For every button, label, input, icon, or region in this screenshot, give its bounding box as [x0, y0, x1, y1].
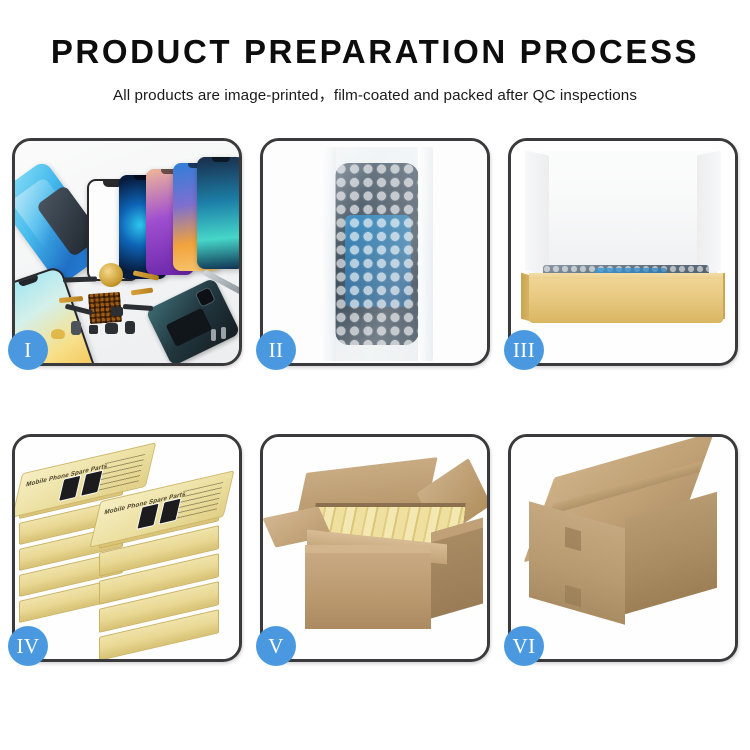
mailer-lid-right-icon [697, 150, 721, 275]
camera-module-icon [195, 286, 216, 307]
step-badge-6: VI [504, 626, 544, 666]
step-badge-5: V [256, 626, 296, 666]
bubble-wrap-packing-photo [263, 141, 487, 363]
connector-part-icon [125, 321, 135, 334]
retail-box-stack-photo: Mobile Phone Spare Parts Mobile Phone Sp… [15, 437, 239, 659]
phone-mockup-teal-icon [197, 157, 239, 269]
process-step-panel-1: I [12, 138, 242, 366]
flex-cable-icon [123, 304, 153, 311]
open-shipping-carton-photo [263, 437, 487, 659]
process-step-panel-4: Mobile Phone Spare Parts Mobile Phone Sp… [12, 434, 242, 662]
battery-icon [166, 308, 212, 347]
process-step-panel-5: V [260, 434, 490, 662]
step-badge-1: I [8, 330, 48, 370]
sealed-shipping-carton-photo [511, 437, 735, 659]
mailer-front-panel-icon [529, 279, 723, 323]
step-badge-2: II [256, 330, 296, 370]
mailer-lid-top-icon [541, 151, 711, 173]
connector-part-icon [89, 325, 98, 334]
step-badge-3: III [504, 330, 544, 370]
flex-cable-icon [59, 296, 83, 303]
connector-part-icon [111, 307, 123, 316]
page-title: PRODUCT PREPARATION PROCESS [0, 32, 750, 72]
sim-tray-part-icon [51, 329, 65, 339]
disassembled-phone-chassis-icon [145, 277, 239, 363]
speaker-part-icon [105, 323, 118, 334]
process-step-panel-3: III [508, 138, 738, 366]
flex-cable-icon [131, 287, 153, 295]
carton-tab-icon [565, 527, 581, 552]
process-step-grid: I II [12, 138, 738, 662]
process-step-panel-6: VI [508, 434, 738, 662]
mailer-lid-left-icon [525, 150, 549, 275]
step-badge-4: IV [8, 626, 48, 666]
screw-icon [211, 329, 216, 341]
plastic-sheen-icon [321, 147, 433, 361]
product-preparation-page: PRODUCT PREPARATION PROCESS All products… [0, 0, 750, 750]
box-spec-lines-icon [177, 482, 223, 519]
product-screens-and-parts-photo [15, 141, 239, 363]
bubble-wrap-pouch-icon [321, 147, 433, 361]
vibration-motor-icon [99, 263, 123, 287]
process-step-panel-2: II [260, 138, 490, 366]
screw-icon [221, 327, 226, 339]
page-subtitle: All products are image-printed，film-coat… [0, 83, 750, 105]
flex-cable-icon [63, 276, 97, 282]
carton-front-panel-icon [305, 553, 431, 629]
connector-part-icon [71, 321, 81, 335]
box-spec-lines-icon [99, 454, 145, 491]
inner-mailer-box-photo [511, 141, 735, 363]
carton-side-panel-icon [431, 528, 483, 619]
page-header: PRODUCT PREPARATION PROCESS All products… [0, 0, 750, 105]
